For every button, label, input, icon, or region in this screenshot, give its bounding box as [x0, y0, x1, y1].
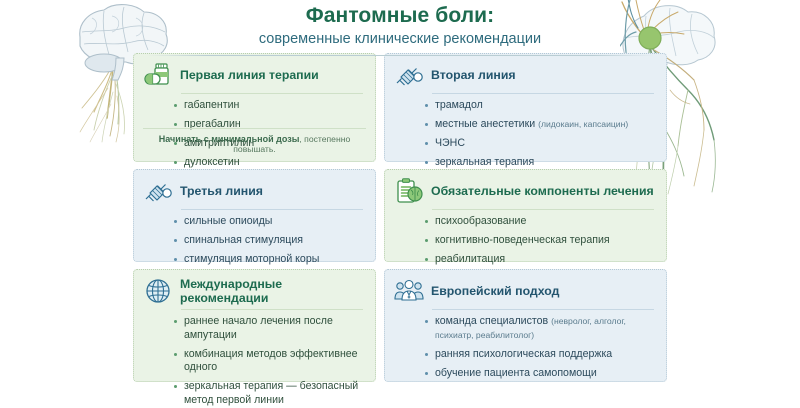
card-third-line[interactable]: Третья линия сильные опиоиды спинальная …	[133, 169, 376, 262]
card-title-divider	[432, 93, 654, 94]
card-header: Европейский подход	[394, 277, 656, 309]
card-title: Вторая линия	[431, 68, 516, 82]
card-header: Третья линия	[143, 177, 365, 209]
card-items-list: трамадол местные анестетики (лидокаин, к…	[394, 99, 656, 170]
recommendation-cards-grid: Первая линия терапии габапентин прегабал…	[133, 53, 667, 382]
list-item: стимуляция моторной коры	[173, 253, 365, 267]
clipboard-brain-icon	[394, 177, 424, 205]
page-header: Фантомные боли: современные клинические …	[0, 0, 800, 56]
list-item: раннее начало лечения после ампутации	[173, 315, 365, 342]
list-item: сильные опиоиды	[173, 215, 365, 229]
card-header: Международные рекомендации	[143, 277, 365, 309]
syringe-icon	[143, 177, 173, 205]
card-title-divider	[181, 309, 363, 310]
header-divider	[146, 55, 654, 56]
card-title: Международные рекомендации	[180, 277, 365, 305]
pill-bottle-icon	[143, 61, 173, 89]
card-title-divider	[432, 309, 654, 310]
list-item: местные анестетики (лидокаин, капсаицин)	[424, 118, 656, 132]
card-footnote: Начинать с минимальной дозы, постепенно …	[143, 128, 366, 154]
page-title: Фантомные боли:	[0, 4, 800, 28]
card-header: Вторая линия	[394, 61, 656, 93]
card-header: Первая линия терапии	[143, 61, 365, 93]
card-header: Обязательные компоненты лечения	[394, 177, 656, 209]
card-title: Первая линия терапии	[180, 68, 319, 82]
list-item: реабилитация	[424, 253, 656, 267]
card-international-recommendations[interactable]: Международные рекомендации раннее начало…	[133, 269, 376, 382]
list-item: зеркальная терапия	[424, 156, 656, 170]
list-item: ЧЭНС	[424, 137, 656, 151]
list-item: когнитивно-поведенческая терапия	[424, 234, 656, 248]
card-title-divider	[432, 209, 654, 210]
card-title-divider	[181, 209, 363, 210]
globe-icon	[143, 277, 173, 305]
list-item: обучение пациента самопомощи	[424, 367, 656, 381]
list-item: дулоксетин	[173, 156, 365, 170]
card-european-approach[interactable]: Европейский подход команда специалистов …	[384, 269, 667, 382]
list-item: психообразование	[424, 215, 656, 229]
card-mandatory-components[interactable]: Обязательные компоненты лечения психообр…	[384, 169, 667, 262]
card-items-list: раннее начало лечения после ампутации ко…	[143, 315, 365, 407]
card-first-line-therapy[interactable]: Первая линия терапии габапентин прегабал…	[133, 53, 376, 162]
list-item: команда специалистов (невролог, алголог,…	[424, 315, 656, 342]
nerve-roots-left	[80, 58, 125, 142]
card-title: Третья линия	[180, 184, 263, 198]
list-item: трамадол	[424, 99, 656, 113]
card-title: Европейский подход	[431, 284, 559, 298]
list-item: габапентин	[173, 99, 365, 113]
list-item: комбинация методов эффективнее одного	[173, 348, 365, 375]
card-items-list: сильные опиоиды спинальная стимуляция ст…	[143, 215, 365, 267]
footnote-strong: Начинать с минимальной дозы	[159, 134, 300, 144]
list-item: спинальная стимуляция	[173, 234, 365, 248]
page-subtitle: современные клинические рекомендации	[0, 31, 800, 48]
card-title: Обязательные компоненты лечения	[431, 184, 654, 198]
syringe-icon	[394, 61, 424, 89]
list-item: ранняя психологическая поддержка	[424, 348, 656, 362]
card-second-line[interactable]: Вторая линия трамадол местные анестетики…	[384, 53, 667, 162]
card-title-divider	[181, 93, 363, 94]
care-team-icon	[394, 277, 424, 305]
list-item: зеркальная терапия — безопасный метод пе…	[173, 380, 365, 407]
card-items-list: команда специалистов (невролог, алголог,…	[394, 315, 656, 380]
